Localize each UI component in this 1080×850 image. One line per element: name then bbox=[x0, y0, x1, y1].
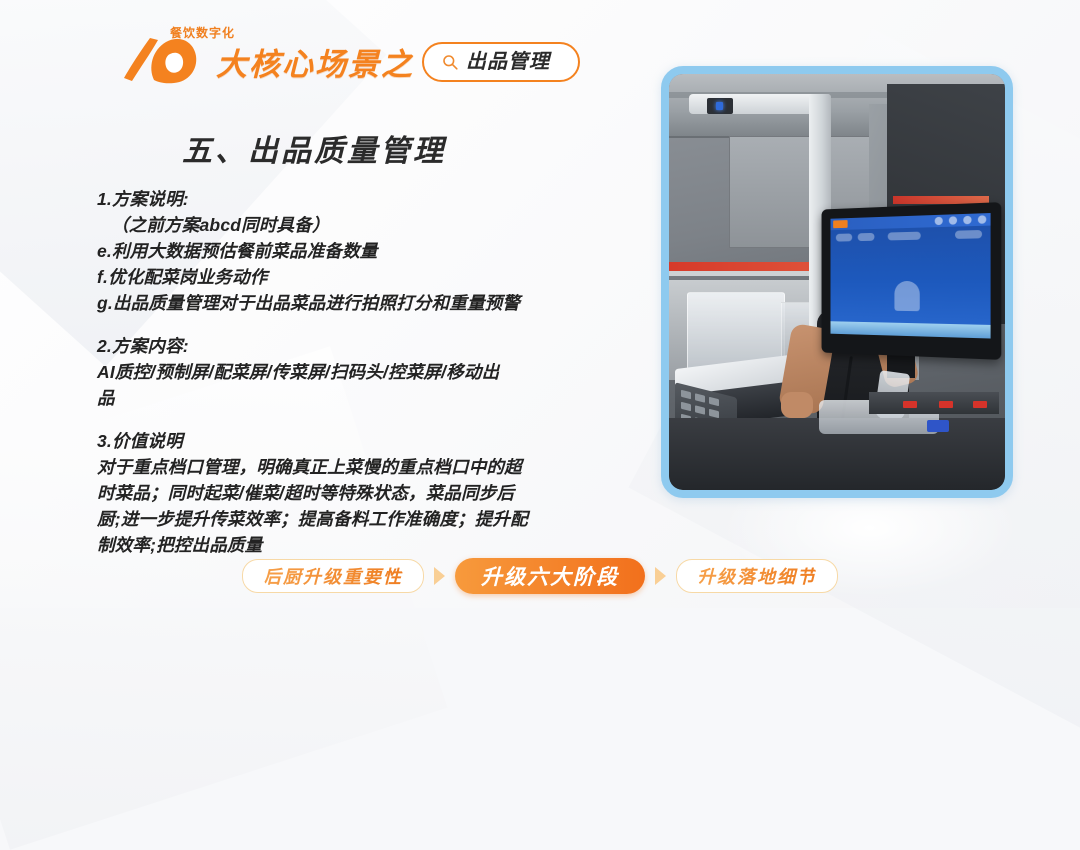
photo-blue-item bbox=[927, 420, 949, 432]
body-copy: 1.方案说明: （之前方案abcd同时具备） e.利用大数据预估餐前菜品准备数量… bbox=[97, 186, 609, 558]
bottom-nav: 后厨升级重要性 升级六大阶段 升级落地细节 bbox=[0, 558, 1080, 594]
nav-item-0-label: 后厨升级重要性 bbox=[263, 563, 403, 589]
photo-app-close-icon bbox=[963, 216, 971, 225]
block3-line-1: 对于重点档口管理，明确真正上菜慢的重点档口中的超 bbox=[97, 454, 609, 480]
block1-item-f: f.优化配菜岗业务动作 bbox=[97, 264, 609, 290]
photo-stove-led-2 bbox=[939, 401, 953, 408]
photo-app-chip-3 bbox=[888, 232, 921, 241]
photo-stove-led-3 bbox=[903, 401, 917, 408]
header: 餐饮数字化 大核心场景之 出品管理 bbox=[118, 28, 580, 84]
search-label: 出品管理 bbox=[466, 52, 550, 72]
page-title: 五、出品质量管理 bbox=[182, 126, 446, 170]
block2-line-2: 品 bbox=[97, 385, 609, 411]
nav-arrow-icon-2 bbox=[655, 567, 666, 585]
nav-item-2-label: 升级落地细节 bbox=[697, 563, 817, 589]
photo-stove-led-1 bbox=[973, 401, 987, 408]
photo-app-settings-icon bbox=[978, 215, 986, 224]
spacer-1 bbox=[97, 316, 609, 333]
nav-item-2[interactable]: 升级落地细节 bbox=[676, 559, 838, 593]
spacer-2 bbox=[97, 411, 609, 428]
photo-pos-monitor bbox=[822, 202, 1002, 360]
photo-app-logo-icon bbox=[833, 220, 847, 228]
block1-note: （之前方案abcd同时具备） bbox=[97, 212, 609, 238]
photo-os-taskbar bbox=[830, 321, 990, 338]
block1-item-g: g.出品质量管理对于出品菜品进行拍照打分和重量预警 bbox=[97, 290, 609, 316]
photo-app-refresh-icon bbox=[935, 217, 943, 225]
photo-app-chip-4 bbox=[955, 230, 982, 239]
photo-app-minimize-icon bbox=[949, 216, 957, 224]
photo-card bbox=[661, 66, 1013, 498]
block3-line-4: 制效率;把控出品质量 bbox=[97, 532, 609, 558]
photo-pos-screen bbox=[830, 213, 990, 339]
block2-line-1: AI质控/预制屏/配菜屏/传菜屏/扫码头/控菜屏/移动出 bbox=[97, 359, 609, 385]
nav-item-1[interactable]: 升级六大阶段 bbox=[455, 558, 645, 594]
photo-worker-hand bbox=[781, 392, 813, 418]
photo-app-empty-state-icon bbox=[894, 281, 919, 311]
block3-heading: 3.价值说明 bbox=[97, 428, 609, 454]
search-pill[interactable]: 出品管理 bbox=[422, 42, 580, 82]
search-icon bbox=[442, 54, 458, 70]
nav-item-1-label: 升级六大阶段 bbox=[481, 561, 619, 591]
logo-number-10-icon bbox=[118, 34, 220, 84]
kitchen-photo bbox=[669, 74, 1005, 490]
photo-app-chip-1 bbox=[836, 233, 852, 241]
photo-app-toolbar bbox=[830, 213, 990, 230]
block2-heading: 2.方案内容: bbox=[97, 333, 609, 359]
brand-logo: 餐饮数字化 bbox=[118, 28, 220, 84]
logo-main-text: 大核心场景之 bbox=[216, 49, 414, 84]
block3-line-3: 厨;进一步提升传菜效率；提高备料工作准确度；提升配 bbox=[97, 506, 609, 532]
nav-arrow-icon-1 bbox=[434, 567, 445, 585]
photo-camera-led-icon bbox=[716, 102, 723, 110]
nav-item-0[interactable]: 后厨升级重要性 bbox=[242, 559, 424, 593]
photo-app-chip-2 bbox=[858, 233, 875, 241]
logo-superscript: 餐饮数字化 bbox=[170, 24, 235, 41]
block1-heading: 1.方案说明: bbox=[97, 186, 609, 212]
block1-item-e: e.利用大数据预估餐前菜品准备数量 bbox=[97, 238, 609, 264]
block3-line-2: 时菜品；同时起菜/催菜/超时等特殊状态，菜品同步后 bbox=[97, 480, 609, 506]
